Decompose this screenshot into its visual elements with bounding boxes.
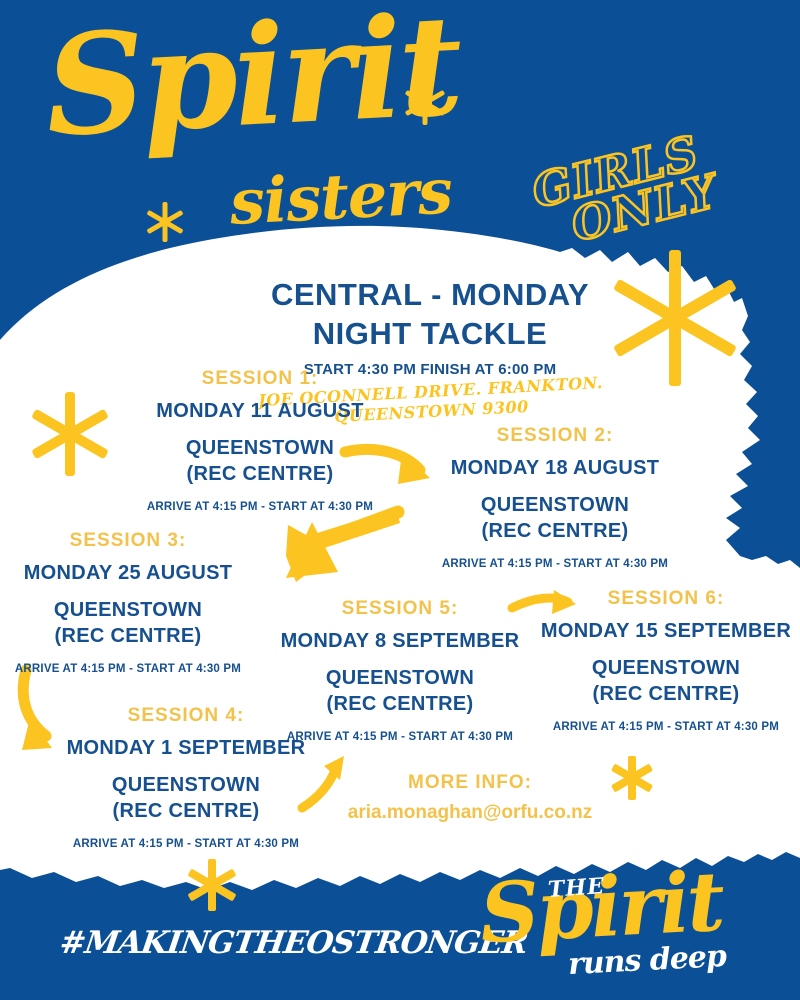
event-headline: CENTRAL - MONDAY NIGHT TACKLE START 4:30… — [255, 276, 605, 378]
more-info-block: MORE INFO: aria.monaghan@orfu.co.nz — [330, 772, 610, 824]
session-4-venue-line1: QUEENSTOWN — [36, 772, 336, 798]
session-2-title: SESSION 2: — [405, 425, 705, 447]
session-1-venue-line2: (REC CENTRE) — [110, 461, 410, 487]
session-5-title: SESSION 5: — [250, 598, 550, 620]
session-5-date: MONDAY 8 SEPTEMBER — [250, 630, 550, 653]
spirit-runs-deep-logo: Spirit THE runs deep — [470, 855, 730, 975]
headline-line1: CENTRAL - MONDAY — [255, 276, 605, 315]
session-5-venue: QUEENSTOWN (REC CENTRE) — [250, 665, 550, 717]
session-1-venue: QUEENSTOWN (REC CENTRE) — [110, 435, 410, 487]
session-1-arrive: ARRIVE AT 4:15 PM - START AT 4:30 PM — [110, 501, 410, 513]
brand-subtitle: sisters — [228, 154, 454, 239]
contact-email[interactable]: aria.monaghan@orfu.co.nz — [330, 802, 610, 824]
session-block-2: SESSION 2: MONDAY 18 AUGUST QUEENSTOWN (… — [405, 425, 705, 570]
session-3-venue: QUEENSTOWN (REC CENTRE) — [0, 597, 278, 649]
brand-wordmark: Spirit sisters — [42, 18, 472, 198]
session-1-venue-line1: QUEENSTOWN — [110, 435, 410, 461]
session-5-venue-line2: (REC CENTRE) — [250, 691, 550, 717]
session-2-arrive: ARRIVE AT 4:15 PM - START AT 4:30 PM — [405, 558, 705, 570]
poster-canvas: Spirit sisters GIRLS ONLY CENTRAL - MOND… — [0, 0, 800, 1000]
session-5-arrive: ARRIVE AT 4:15 PM - START AT 4:30 PM — [250, 731, 550, 743]
footer-hashtag: #MAKINGTHEOSTRONGER — [57, 925, 529, 961]
session-2-venue-line1: QUEENSTOWN — [405, 492, 705, 518]
session-block-6: SESSION 6: MONDAY 15 SEPTEMBER QUEENSTOW… — [516, 588, 800, 733]
session-5-venue-line1: QUEENSTOWN — [250, 665, 550, 691]
session-3-venue-line1: QUEENSTOWN — [0, 597, 278, 623]
session-6-date: MONDAY 15 SEPTEMBER — [516, 620, 800, 643]
session-1-title: SESSION 1: — [110, 368, 410, 390]
headline-line2: NIGHT TACKLE — [255, 315, 605, 354]
session-6-venue-line1: QUEENSTOWN — [516, 655, 800, 681]
session-block-1: SESSION 1: MONDAY 11 AUGUST QUEENSTOWN (… — [110, 368, 410, 513]
session-6-venue: QUEENSTOWN (REC CENTRE) — [516, 655, 800, 707]
brand-title: Spirit — [42, 0, 479, 156]
session-2-venue: QUEENSTOWN (REC CENTRE) — [405, 492, 705, 544]
more-info-label: MORE INFO: — [330, 772, 610, 794]
session-4-venue-line2: (REC CENTRE) — [36, 798, 336, 824]
session-2-venue-line2: (REC CENTRE) — [405, 518, 705, 544]
session-2-date: MONDAY 18 AUGUST — [405, 457, 705, 480]
logo-the-text: THE — [547, 873, 606, 903]
session-3-arrive: ARRIVE AT 4:15 PM - START AT 4:30 PM — [0, 663, 278, 675]
session-1-date: MONDAY 11 AUGUST — [110, 400, 410, 423]
session-3-venue-line2: (REC CENTRE) — [0, 623, 278, 649]
session-3-title: SESSION 3: — [0, 530, 278, 552]
girls-only-badge: GIRLS ONLY — [528, 128, 723, 254]
session-6-title: SESSION 6: — [516, 588, 800, 610]
session-6-arrive: ARRIVE AT 4:15 PM - START AT 4:30 PM — [516, 721, 800, 733]
session-3-date: MONDAY 25 AUGUST — [0, 562, 278, 585]
session-6-venue-line2: (REC CENTRE) — [516, 681, 800, 707]
session-block-3: SESSION 3: MONDAY 25 AUGUST QUEENSTOWN (… — [0, 530, 278, 675]
content-layer: Spirit sisters GIRLS ONLY CENTRAL - MOND… — [0, 0, 800, 1000]
session-4-venue: QUEENSTOWN (REC CENTRE) — [36, 772, 336, 824]
session-block-5: SESSION 5: MONDAY 8 SEPTEMBER QUEENSTOWN… — [250, 598, 550, 743]
logo-runs-deep-text: runs deep — [567, 939, 727, 982]
session-4-arrive: ARRIVE AT 4:15 PM - START AT 4:30 PM — [36, 838, 336, 850]
